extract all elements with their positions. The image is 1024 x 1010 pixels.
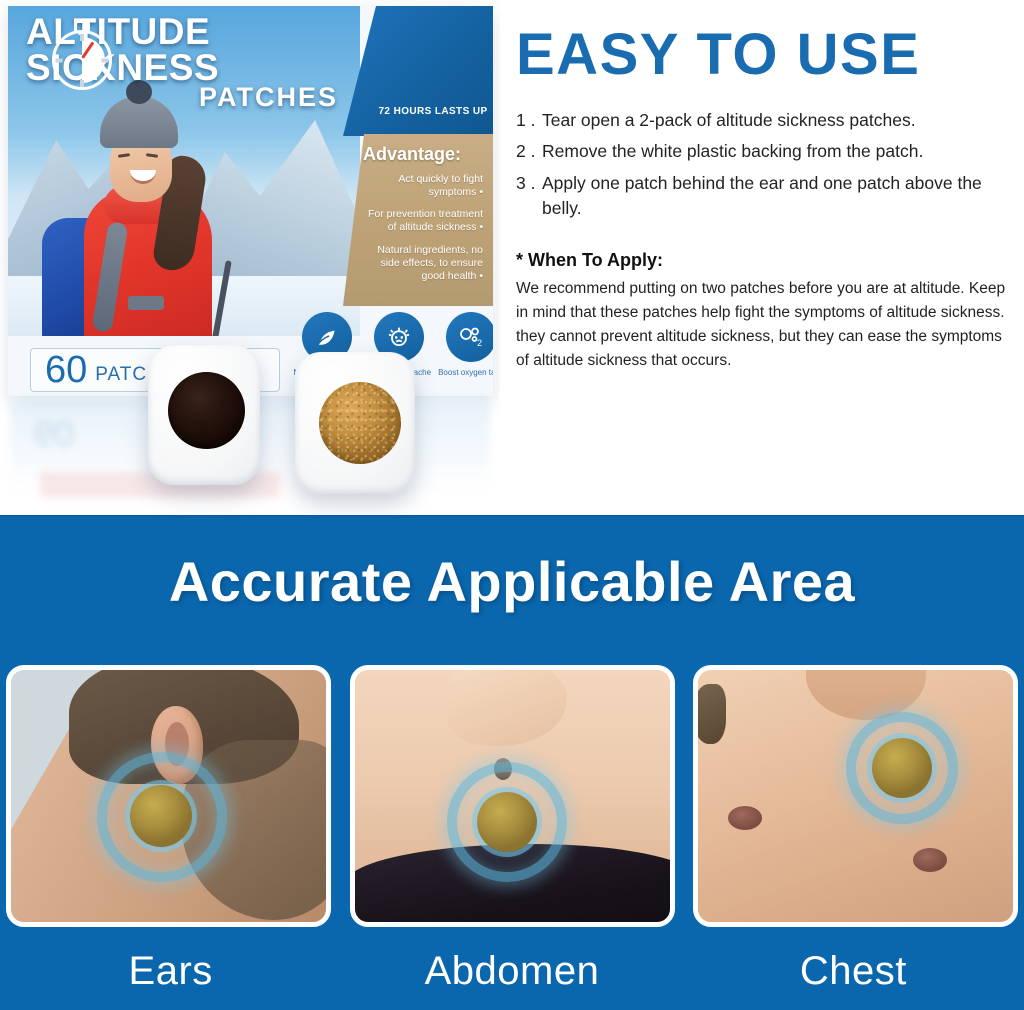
- step-text: Apply one patch behind the ear and one p…: [542, 173, 982, 218]
- area-labels: Ears Abdomen Chest: [0, 949, 1024, 1009]
- easy-to-use-section: ALTITUDE SICKNESS PATCHES 72 HOURS L: [0, 0, 1024, 515]
- advantage-panel: Advantage: Act quickly to fight symptoms…: [343, 134, 493, 306]
- instructions-column: EASY TO USE 1 .Tear open a 2-pack of alt…: [510, 0, 1024, 515]
- svg-text:2: 2: [477, 338, 482, 348]
- area-panels: [0, 665, 1024, 937]
- advantage-item: For prevention treatment of altitude sic…: [363, 208, 483, 234]
- strap-buckle: [128, 296, 164, 310]
- step-item: 2 .Remove the white plastic backing from…: [516, 139, 1014, 164]
- oxygen-icon: 2: [446, 312, 493, 362]
- steps-list: 1 .Tear open a 2-pack of altitude sickne…: [516, 108, 1014, 222]
- advantage-item: Natural ingredients, no side effects, to…: [363, 244, 483, 283]
- step-number: 1 .: [516, 108, 542, 133]
- step-number: 3 .: [516, 171, 542, 196]
- product-infographic: ALTITUDE SICKNESS PATCHES 72 HOURS L: [0, 0, 1024, 1010]
- area-panel-ears: [6, 665, 331, 927]
- reflection-count: 60: [34, 412, 74, 454]
- advantage-item: Act quickly to fight symptoms: [363, 173, 483, 199]
- trekking-pole: [210, 260, 232, 336]
- hiker-woman-photo: [42, 90, 242, 336]
- stopwatch-icon: [52, 22, 114, 84]
- area-label-chest: Chest: [683, 949, 1024, 1009]
- when-to-apply-title: * When To Apply:: [516, 250, 1014, 271]
- area-panel-abdomen: [350, 665, 675, 927]
- applicable-area-section: Accurate Applicable Area: [0, 515, 1024, 1010]
- area-panel-chest: [693, 665, 1018, 927]
- when-to-apply-body: We recommend putting on two patches befo…: [516, 277, 1014, 373]
- nipple-left: [728, 806, 762, 830]
- applied-patch-icon: [872, 738, 932, 798]
- product-package-photo: ALTITUDE SICKNESS PATCHES 72 HOURS L: [0, 0, 500, 515]
- badge-caption: Boost oxygen take: [437, 368, 493, 378]
- package-box: ALTITUDE SICKNESS PATCHES 72 HOURS L: [8, 6, 493, 396]
- nipple-right: [913, 848, 947, 872]
- step-text: Tear open a 2-pack of altitude sickness …: [542, 110, 916, 130]
- timer-label: 72 HOURS LASTS UP: [358, 106, 493, 117]
- area-label-abdomen: Abdomen: [341, 949, 682, 1009]
- area-label-ears: Ears: [0, 949, 341, 1009]
- area-heading: Accurate Applicable Area: [0, 549, 1024, 614]
- underarm-hair: [693, 684, 726, 744]
- patch-sample-dark: [148, 345, 260, 485]
- step-number: 2 .: [516, 139, 542, 164]
- step-text: Remove the white plastic backing from th…: [542, 141, 923, 161]
- applied-patch-icon: [130, 785, 192, 847]
- step-item: 1 .Tear open a 2-pack of altitude sickne…: [516, 108, 1014, 133]
- patch-sample-herbal: [295, 352, 415, 494]
- patch-count-number: 60: [45, 351, 87, 389]
- step-item: 3 .Apply one patch behind the ear and on…: [516, 171, 1014, 222]
- page-title: EASY TO USE: [516, 26, 1014, 84]
- advantage-title: Advantage:: [363, 144, 483, 165]
- applied-patch-icon: [477, 792, 537, 852]
